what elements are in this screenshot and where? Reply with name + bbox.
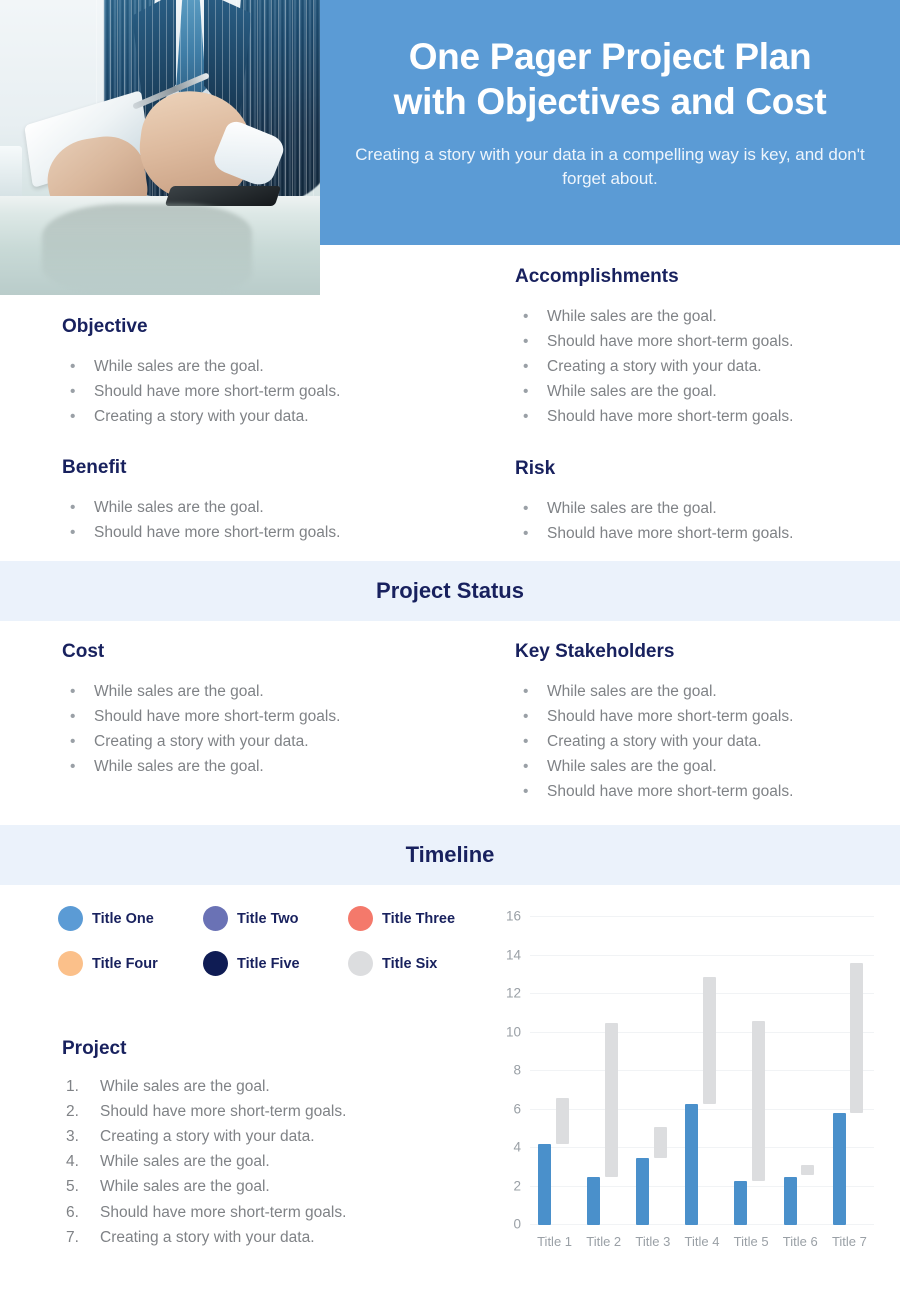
- photo-smartphone: [165, 186, 281, 206]
- chart-bar-remaining: [752, 1021, 765, 1181]
- chart-y-tick-label: 2: [513, 1178, 521, 1193]
- chart-x-tick-label: Title 4: [685, 1234, 720, 1249]
- risk-list: While sales are the goal. Should have mo…: [515, 496, 875, 546]
- chart-bar-duration: [685, 1104, 698, 1225]
- chart-bar-group: Title 6: [776, 917, 825, 1225]
- chart-x-tick-label: Title 7: [832, 1234, 867, 1249]
- cost-block: Cost While sales are the goal. Should ha…: [62, 641, 462, 779]
- chart-plot-area: 0246810121416Title 1Title 2Title 3Title …: [530, 917, 874, 1225]
- chart-bar-group: Title 1: [530, 917, 579, 1225]
- list-item: While sales are the goal.: [62, 1174, 482, 1199]
- legend-swatch-icon: [348, 906, 373, 931]
- page-subtitle: Creating a story with your data in a com…: [350, 143, 870, 191]
- timeline-banner: Timeline: [0, 825, 900, 885]
- timeline-gantt-chart: 0246810121416Title 1Title 2Title 3Title …: [492, 905, 888, 1260]
- list-item: Should have more short-term goals.: [515, 329, 875, 354]
- chart-bar-remaining: [556, 1098, 569, 1144]
- chart-y-tick-label: 4: [513, 1140, 521, 1155]
- accomplishments-block: Accomplishments While sales are the goal…: [515, 266, 875, 430]
- chart-y-tick-label: 8: [513, 1063, 521, 1078]
- legend-item-label: Title Three: [382, 911, 455, 927]
- project-block: Project While sales are the goal. Should…: [62, 1038, 482, 1250]
- chart-bar-group: Title 2: [579, 917, 628, 1225]
- objective-block: Objective While sales are the goal. Shou…: [62, 316, 462, 429]
- risk-heading: Risk: [515, 458, 875, 480]
- benefit-list: While sales are the goal. Should have mo…: [62, 495, 462, 545]
- page-title: One Pager Project Plan with Objectives a…: [350, 34, 870, 124]
- chart-x-tick-label: Title 6: [783, 1234, 818, 1249]
- list-item: Should have more short-term goals.: [62, 379, 462, 404]
- accomplishments-heading: Accomplishments: [515, 266, 875, 288]
- list-item: Creating a story with your data.: [62, 404, 462, 429]
- objective-benefit-column: Objective While sales are the goal. Shou…: [62, 316, 462, 546]
- chart-bar-duration: [734, 1181, 747, 1225]
- page-title-line-2: with Objectives and Cost: [350, 79, 870, 124]
- project-list: While sales are the goal. Should have mo…: [62, 1074, 482, 1250]
- chart-x-tick-label: Title 3: [635, 1234, 670, 1249]
- chart-y-tick-label: 10: [506, 1024, 521, 1039]
- chart-bar-group: Title 5: [727, 917, 776, 1225]
- chart-y-tick-label: 12: [506, 986, 521, 1001]
- list-item: Creating a story with your data.: [62, 729, 462, 754]
- list-item: Creating a story with your data.: [62, 1124, 482, 1149]
- chart-bar-duration: [636, 1158, 649, 1225]
- list-item: Should have more short-term goals.: [515, 779, 885, 804]
- timeline-title: Timeline: [406, 842, 495, 868]
- list-item: Should have more short-term goals.: [62, 520, 462, 545]
- list-item: Creating a story with your data.: [515, 354, 875, 379]
- list-item: While sales are the goal.: [62, 754, 462, 779]
- legend-item-label: Title One: [92, 911, 154, 927]
- list-item: While sales are the goal.: [515, 304, 875, 329]
- chart-bar-group: Title 3: [628, 917, 677, 1225]
- list-item: Should have more short-term goals.: [62, 1099, 482, 1124]
- list-item: Creating a story with your data.: [515, 729, 885, 754]
- legend-item-4[interactable]: Title Four: [58, 951, 203, 976]
- list-item: Creating a story with your data.: [62, 1225, 482, 1250]
- legend-item-1[interactable]: Title One: [58, 906, 203, 931]
- legend-item-6[interactable]: Title Six: [348, 951, 493, 976]
- accomplishments-risk-column: Accomplishments While sales are the goal…: [515, 266, 875, 546]
- project-heading: Project: [62, 1038, 482, 1060]
- chart-bar-duration: [833, 1113, 846, 1225]
- hero-title-banner: One Pager Project Plan with Objectives a…: [320, 0, 900, 245]
- chart-y-tick-label: 6: [513, 1101, 521, 1116]
- legend-item-2[interactable]: Title Two: [203, 906, 348, 931]
- list-item: While sales are the goal.: [515, 754, 885, 779]
- key-stakeholders-heading: Key Stakeholders: [515, 641, 885, 663]
- risk-block: Risk While sales are the goal. Should ha…: [515, 458, 875, 546]
- list-item: Should have more short-term goals.: [515, 404, 875, 429]
- chart-bar-remaining: [801, 1165, 814, 1175]
- chart-x-tick-label: Title 2: [586, 1234, 621, 1249]
- cost-list: While sales are the goal. Should have mo…: [62, 679, 462, 779]
- list-item: Should have more short-term goals.: [62, 1200, 482, 1225]
- list-item: Should have more short-term goals.: [515, 521, 875, 546]
- list-item: While sales are the goal.: [515, 496, 875, 521]
- legend-item-label: Title Six: [382, 956, 437, 972]
- timeline-legend: Title OneTitle TwoTitle ThreeTitle FourT…: [58, 906, 458, 976]
- page-title-line-1: One Pager Project Plan: [350, 34, 870, 79]
- legend-item-3[interactable]: Title Three: [348, 906, 493, 931]
- list-item: While sales are the goal.: [62, 679, 462, 704]
- chart-bar-duration: [784, 1177, 797, 1225]
- objective-heading: Objective: [62, 316, 462, 338]
- list-item: While sales are the goal.: [62, 495, 462, 520]
- benefit-block: Benefit While sales are the goal. Should…: [62, 457, 462, 545]
- chart-bar-remaining: [605, 1023, 618, 1177]
- list-item: Should have more short-term goals.: [515, 704, 885, 729]
- chart-bar-remaining: [703, 977, 716, 1104]
- chart-bar-duration: [587, 1177, 600, 1225]
- benefit-heading: Benefit: [62, 457, 462, 479]
- objective-list: While sales are the goal. Should have mo…: [62, 354, 462, 429]
- photo-desk-reflection: [42, 204, 252, 290]
- legend-item-label: Title Two: [237, 911, 299, 927]
- legend-item-5[interactable]: Title Five: [203, 951, 348, 976]
- chart-y-tick-label: 16: [506, 909, 521, 924]
- legend-swatch-icon: [58, 906, 83, 931]
- businessman-with-tablet-photo: [0, 0, 320, 295]
- chart-y-tick-label: 14: [506, 947, 521, 962]
- accomplishments-list: While sales are the goal. Should have mo…: [515, 304, 875, 430]
- one-pager-infographic: One Pager Project Plan with Objectives a…: [0, 0, 900, 1300]
- list-item: While sales are the goal.: [62, 354, 462, 379]
- legend-swatch-icon: [58, 951, 83, 976]
- legend-swatch-icon: [203, 906, 228, 931]
- chart-bar-group: Title 7: [825, 917, 874, 1225]
- list-item: While sales are the goal.: [515, 379, 875, 404]
- chart-y-tick-label: 0: [513, 1217, 521, 1232]
- chart-x-tick-label: Title 5: [734, 1234, 769, 1249]
- list-item: While sales are the goal.: [62, 1149, 482, 1174]
- chart-bar-remaining: [654, 1127, 667, 1158]
- list-item: While sales are the goal.: [62, 1074, 482, 1099]
- key-stakeholders-block: Key Stakeholders While sales are the goa…: [515, 641, 885, 805]
- chart-bar-remaining: [850, 963, 863, 1113]
- project-status-banner: Project Status: [0, 561, 900, 621]
- legend-swatch-icon: [203, 951, 228, 976]
- cost-heading: Cost: [62, 641, 462, 663]
- legend-swatch-icon: [348, 951, 373, 976]
- hero-section: One Pager Project Plan with Objectives a…: [0, 0, 900, 295]
- list-item: Should have more short-term goals.: [62, 704, 462, 729]
- chart-x-tick-label: Title 1: [537, 1234, 572, 1249]
- chart-bar-duration: [538, 1144, 551, 1225]
- list-item: While sales are the goal.: [515, 679, 885, 704]
- legend-item-label: Title Four: [92, 956, 158, 972]
- key-stakeholders-list: While sales are the goal. Should have mo…: [515, 679, 885, 805]
- chart-bar-group: Title 4: [677, 917, 726, 1225]
- project-status-title: Project Status: [376, 578, 524, 604]
- legend-item-label: Title Five: [237, 956, 300, 972]
